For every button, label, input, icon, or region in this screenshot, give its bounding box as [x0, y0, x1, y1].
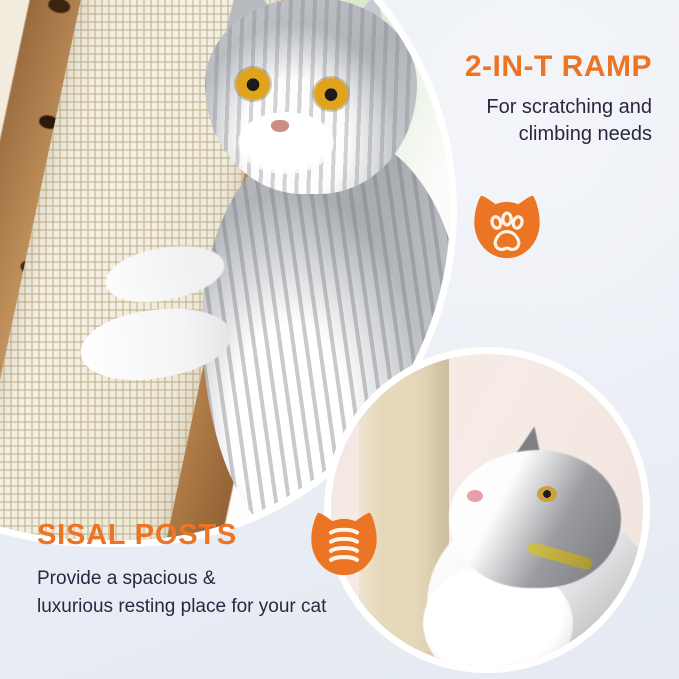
- ramp-description: For scratching and climbing needs: [352, 94, 652, 148]
- sisal-posts-headline: SISAL POSTS: [37, 519, 417, 551]
- product-feature-image: 2-IN-T RAMP For scratching and climbing …: [0, 0, 679, 679]
- ramp-headline: 2-IN-T RAMP: [352, 50, 652, 84]
- feature-text-sisal-posts: SISAL POSTS Provide a spacious & luxurio…: [37, 519, 417, 621]
- feature-text-ramp: 2-IN-T RAMP For scratching and climbing …: [352, 50, 652, 148]
- cat-head-paw-badge-icon: [469, 189, 545, 265]
- ramp-description-line-2: climbing needs: [352, 121, 652, 148]
- longhair-cat-nose: [467, 490, 483, 502]
- longhair-cat-head: [449, 450, 621, 588]
- tabby-cat-eye-right: [314, 78, 348, 110]
- sisal-posts-description-line-1: Provide a spacious &: [37, 565, 417, 593]
- sisal-posts-description-line-2: luxurious resting place for your cat: [37, 593, 417, 621]
- sisal-posts-description: Provide a spacious & luxurious resting p…: [37, 565, 417, 620]
- tabby-cat-nose: [271, 120, 289, 132]
- longhair-cat-eye: [537, 486, 557, 502]
- tabby-cat-eye-left: [236, 68, 270, 100]
- ramp-description-line-1: For scratching and: [352, 94, 652, 121]
